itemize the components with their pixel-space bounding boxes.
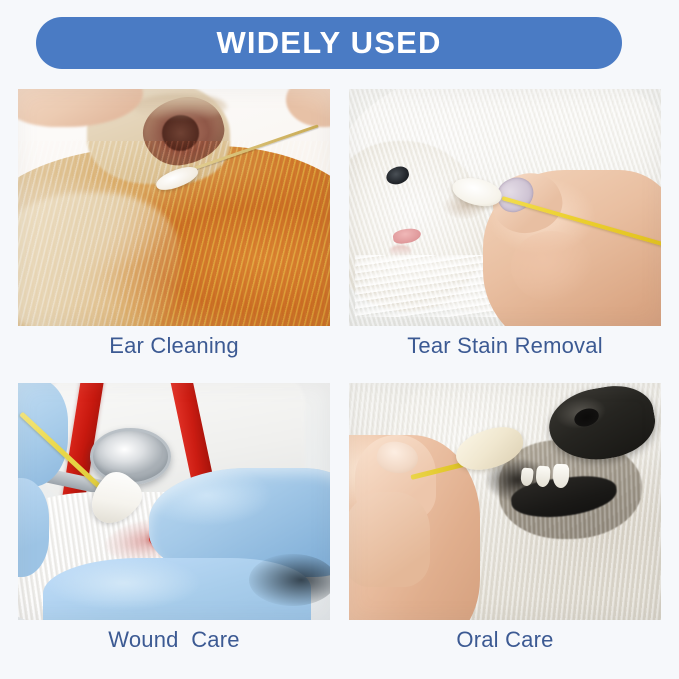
- cat-whiskers: [355, 255, 499, 317]
- usage-card-oral-care: Oral Care: [349, 383, 661, 660]
- card-caption-wound-care: Wound Care: [18, 620, 330, 660]
- cat-tear-stain-removal-photo: [349, 89, 661, 326]
- dog-ear-rim: [133, 94, 227, 120]
- stethoscope-chestpiece: [90, 428, 171, 485]
- card-caption-oral-care: Oral Care: [349, 620, 661, 660]
- usage-card-tear-stain-removal: Tear Stain Removal: [349, 89, 661, 366]
- human-finger-middle: [349, 492, 430, 587]
- banner-title: WIDELY USED: [216, 25, 441, 61]
- widely-used-banner: WIDELY USED: [36, 17, 622, 69]
- oral-care-photo: [349, 383, 661, 620]
- usage-card-ear-cleaning: Ear Cleaning: [18, 89, 330, 366]
- card-caption-tear-stain-removal: Tear Stain Removal: [349, 326, 661, 366]
- wound-care-photo: [18, 383, 330, 620]
- shadow-corner: [249, 554, 330, 606]
- usage-card-wound-care: Wound Care: [18, 383, 330, 660]
- dog-fur-texture: [18, 141, 330, 326]
- card-caption-ear-cleaning: Ear Cleaning: [18, 326, 330, 366]
- dog-ear-cleaning-photo: [18, 89, 330, 326]
